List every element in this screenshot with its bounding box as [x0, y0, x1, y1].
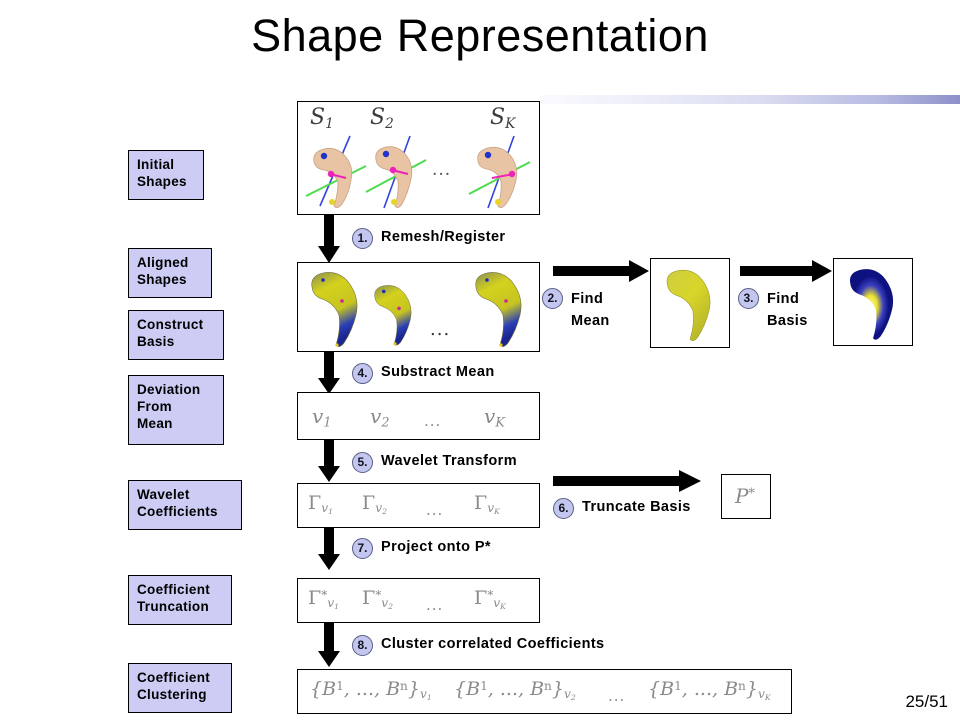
- arrow-find-basis: [740, 260, 832, 282]
- step-7-label: Project onto P*: [381, 538, 491, 557]
- step-8-badge: 8.: [352, 635, 373, 656]
- initial-shapes-ellipsis: ...: [432, 160, 451, 180]
- arrow-truncate-basis: [553, 470, 701, 492]
- sidebar-item-deviation-from-mean[interactable]: Deviation From Mean: [128, 375, 224, 445]
- slide-canvas: Shape Representation Initial Shapes Alig…: [0, 0, 960, 720]
- mean-shape-icon: [661, 265, 721, 343]
- step-7-project-onto-pstar: 7. Project onto P*: [352, 538, 491, 559]
- arrow-find-mean: [553, 260, 649, 282]
- step-8-cluster-correlated-coefficients: 8. Cluster correlated Coefficients: [352, 635, 605, 656]
- step-3-badge: 3.: [738, 288, 759, 309]
- deviation-v2: v2: [370, 404, 389, 431]
- arrow-remesh-register: [318, 215, 340, 263]
- step-4-label: Substract Mean: [381, 363, 495, 382]
- deviation-v1: v1: [312, 404, 331, 431]
- step-6-label: Truncate Basis: [582, 498, 691, 517]
- basis-shape-panel: [833, 258, 913, 346]
- projected-coeff-k: Γ*vK: [474, 587, 506, 612]
- aligned-shape-1-icon: [306, 267, 368, 349]
- step-4-badge: 4.: [352, 363, 373, 384]
- step-3-label: Find Basis: [767, 288, 808, 332]
- wavelet-coeffs-ellipsis: ...: [426, 501, 443, 519]
- shape-label-sk: SK: [490, 105, 515, 132]
- shape-label-s2: S2: [370, 105, 394, 132]
- step-1-badge: 1.: [352, 228, 373, 249]
- sidebar-item-label: Coefficient Clustering: [137, 670, 210, 702]
- deviations-ellipsis: ...: [424, 412, 441, 430]
- page-title: Shape Representation: [0, 10, 960, 62]
- sidebar-item-initial-shapes[interactable]: Initial Shapes: [128, 150, 204, 200]
- sidebar-item-label: Wavelet Coefficients: [137, 487, 218, 519]
- sidebar-item-label: Construct Basis: [137, 317, 203, 349]
- arrow-cluster-coefficients: [318, 623, 340, 667]
- step-8-label: Cluster correlated Coefficients: [381, 635, 605, 654]
- initial-shape-k-icon: [466, 132, 534, 210]
- aligned-shapes-ellipsis: ...: [430, 319, 450, 340]
- sidebar-item-construct-basis[interactable]: Construct Basis: [128, 310, 224, 360]
- step-2-label: Find Mean: [571, 288, 610, 332]
- decorative-gradient-bar: [540, 95, 960, 104]
- initial-shape-2-icon: [364, 132, 430, 210]
- step-7-badge: 7.: [352, 538, 373, 559]
- sidebar-item-label: Coefficient Truncation: [137, 582, 210, 614]
- projected-coeff-1: Γ*v1: [308, 587, 339, 612]
- sidebar-item-label: Deviation From Mean: [137, 382, 200, 431]
- step-2-find-mean: 2. Find Mean: [542, 288, 610, 332]
- sidebar-item-aligned-shapes[interactable]: Aligned Shapes: [128, 248, 212, 298]
- step-6-badge: 6.: [553, 498, 574, 519]
- projected-coeffs-ellipsis: ...: [426, 596, 443, 614]
- step-1-label: Remesh/Register: [381, 228, 505, 247]
- initial-shape-1-icon: [304, 132, 370, 210]
- projected-coefficients-panel: Γ*v1 Γ*v2 ... Γ*vK: [297, 578, 540, 623]
- arrow-substract-mean: [318, 352, 340, 394]
- step-6-truncate-basis: 6. Truncate Basis: [553, 498, 691, 519]
- sidebar-item-label: Initial Shapes: [137, 157, 187, 189]
- initial-shapes-panel: S1 S2 SK ...: [297, 101, 540, 215]
- cluster-set-2: {B1, ..., Bn}v2: [454, 678, 576, 703]
- cluster-set-k: {B1, ..., Bn}vK: [648, 678, 771, 703]
- step-2-badge: 2.: [542, 288, 563, 309]
- wavelet-coeff-2: Γv2: [362, 492, 387, 517]
- deviations-panel: v1 v2 ... vK: [297, 392, 540, 440]
- aligned-shape-k-icon: [470, 267, 532, 349]
- step-5-wavelet-transform: 5. Wavelet Transform: [352, 452, 517, 473]
- mean-shape-panel: [650, 258, 730, 348]
- truncated-basis-label: P*: [735, 484, 755, 508]
- step-4-substract-mean: 4. Substract Mean: [352, 363, 495, 384]
- sidebar-item-coefficient-truncation[interactable]: Coefficient Truncation: [128, 575, 232, 625]
- wavelet-coefficients-panel: Γv1 Γv2 ... ΓvK: [297, 483, 540, 528]
- wavelet-coeff-1: Γv1: [308, 492, 333, 517]
- deviation-vk: vK: [484, 404, 505, 431]
- step-3-find-basis: 3. Find Basis: [738, 288, 808, 332]
- step-1-remesh-register: 1. Remesh/Register: [352, 228, 505, 249]
- wavelet-coeff-k: ΓvK: [474, 492, 500, 517]
- step-5-label: Wavelet Transform: [381, 452, 517, 471]
- truncated-basis-panel: P*: [721, 474, 771, 519]
- clusters-ellipsis: ...: [608, 687, 625, 705]
- basis-shape-icon: [843, 264, 905, 342]
- projected-coeff-2: Γ*v2: [362, 587, 393, 612]
- clusters-panel: {B1, ..., Bn}v1 {B1, ..., Bn}v2 ... {B1,…: [297, 669, 792, 714]
- sidebar-item-label: Aligned Shapes: [137, 255, 189, 287]
- sidebar-item-coefficient-clustering[interactable]: Coefficient Clustering: [128, 663, 232, 713]
- arrow-project-onto-pstar: [318, 528, 340, 570]
- arrow-wavelet-transform: [318, 440, 340, 482]
- step-5-badge: 5.: [352, 452, 373, 473]
- sidebar-item-wavelet-coefficients[interactable]: Wavelet Coefficients: [128, 480, 242, 530]
- aligned-shapes-panel: ...: [297, 262, 540, 352]
- cluster-set-1: {B1, ..., Bn}v1: [310, 678, 432, 703]
- shape-label-s1: S1: [310, 105, 334, 132]
- page-number: 25/51: [905, 692, 948, 712]
- aligned-shape-2-icon: [370, 279, 420, 349]
